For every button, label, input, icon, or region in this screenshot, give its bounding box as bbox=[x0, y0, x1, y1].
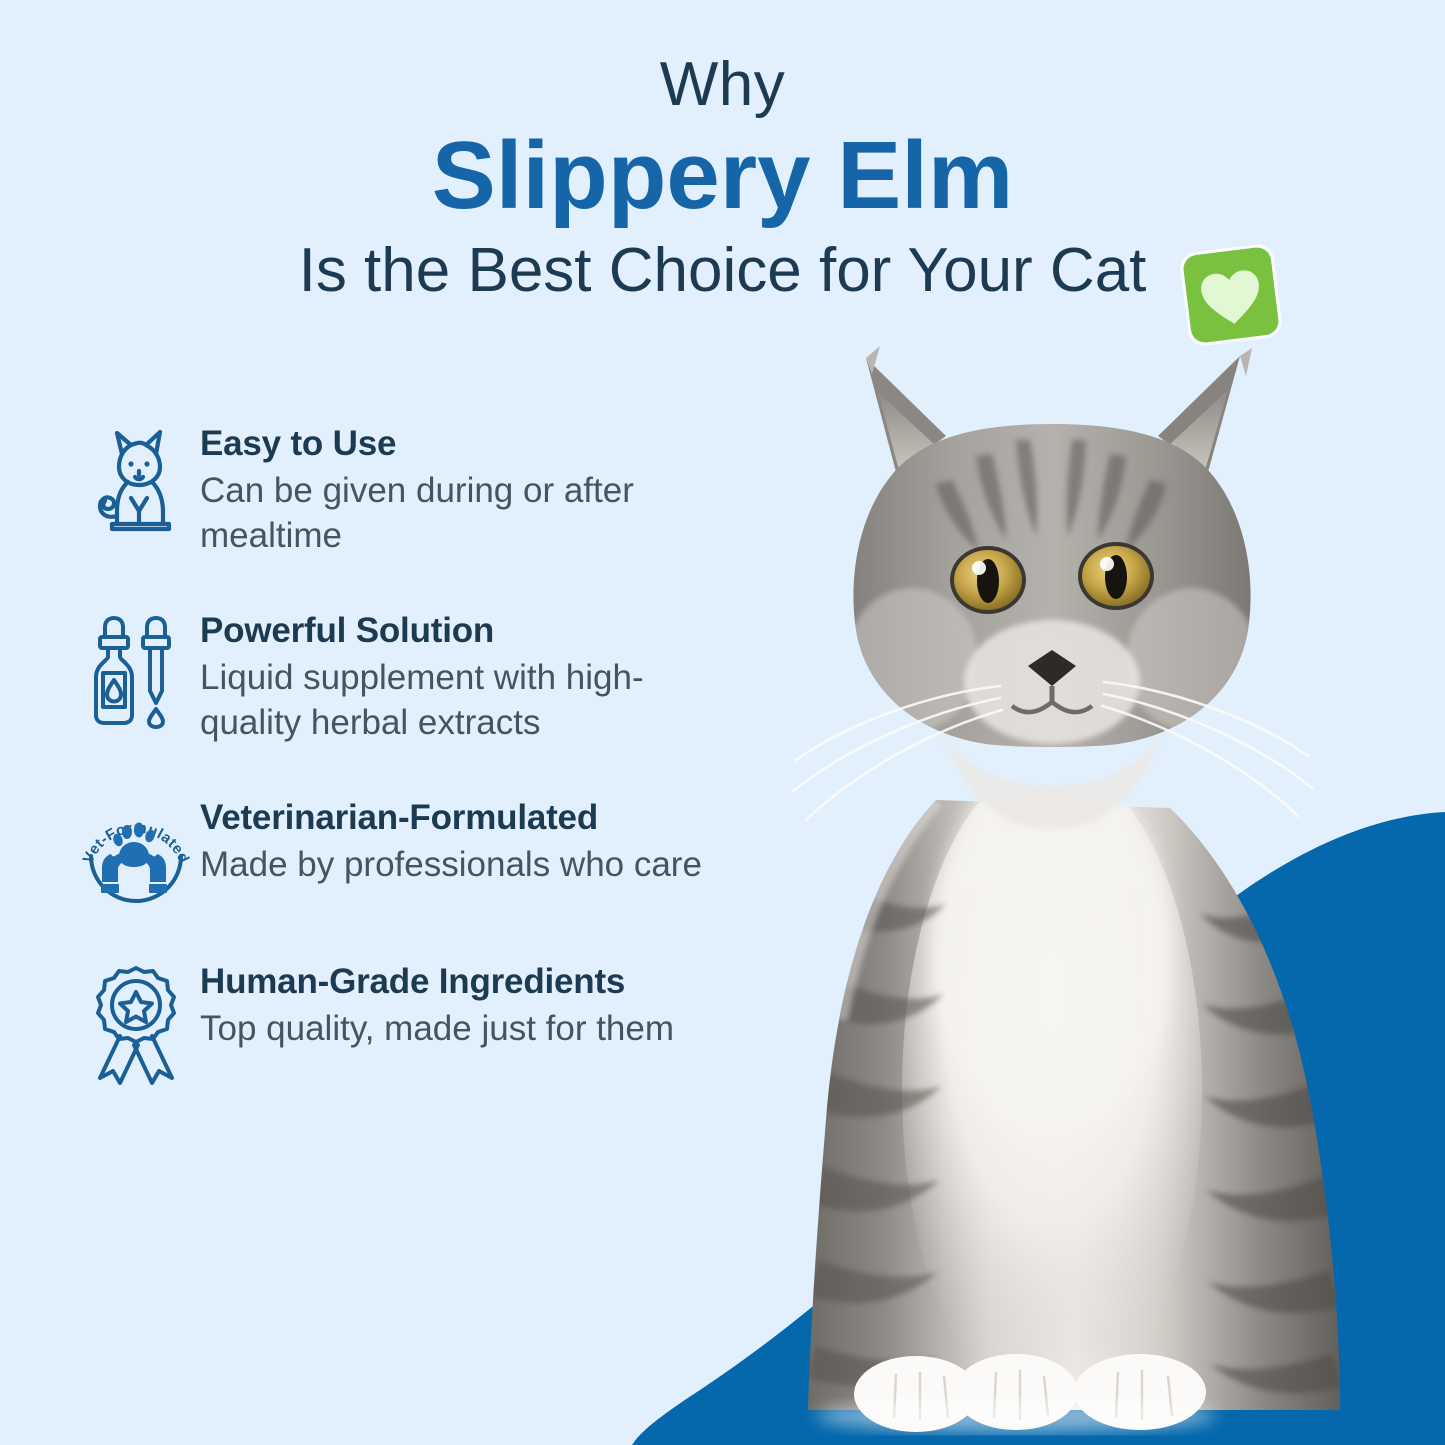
infographic-root: Why Slippery Elm Is the Best Choice for … bbox=[0, 0, 1445, 1445]
feature-description: Can be given during or after mealtime bbox=[200, 469, 720, 559]
headline-brand: Slippery Elm bbox=[0, 122, 1445, 230]
dropper-bottle-icon bbox=[72, 605, 200, 723]
feature-item-easy-to-use: Easy to Use Can be given during or after… bbox=[72, 418, 772, 559]
sitting-cat-icon bbox=[72, 418, 200, 536]
feature-item-powerful-solution: Powerful Solution Liquid supplement with… bbox=[72, 605, 772, 746]
feature-text: Easy to Use Can be given during or after… bbox=[200, 418, 720, 559]
feature-text: Human-Grade Ingredients Top quality, mad… bbox=[200, 956, 674, 1052]
feature-description: Made by professionals who care bbox=[200, 843, 702, 888]
feature-item-human-grade: Human-Grade Ingredients Top quality, mad… bbox=[72, 956, 772, 1074]
cat-photo bbox=[700, 330, 1445, 1445]
vet-formulated-seal-icon: Vet-Formulated bbox=[72, 792, 200, 910]
feature-text: Powerful Solution Liquid supplement with… bbox=[200, 605, 720, 746]
award-ribbon-icon bbox=[72, 956, 200, 1074]
feature-title: Veterinarian-Formulated bbox=[200, 798, 702, 837]
feature-title: Easy to Use bbox=[200, 424, 720, 463]
feature-description: Liquid supplement with high-quality herb… bbox=[200, 656, 720, 746]
feature-item-vet-formulated: Vet-Formulated bbox=[72, 792, 772, 910]
feature-list: Easy to Use Can be given during or after… bbox=[72, 418, 772, 1074]
feature-title: Powerful Solution bbox=[200, 611, 720, 650]
headline-why: Why bbox=[0, 54, 1445, 116]
feature-text: Veterinarian-Formulated Made by professi… bbox=[200, 792, 702, 888]
feature-title: Human-Grade Ingredients bbox=[200, 962, 674, 1001]
feature-description: Top quality, made just for them bbox=[200, 1007, 674, 1052]
heart-in-rounded-square-icon bbox=[1176, 240, 1286, 350]
